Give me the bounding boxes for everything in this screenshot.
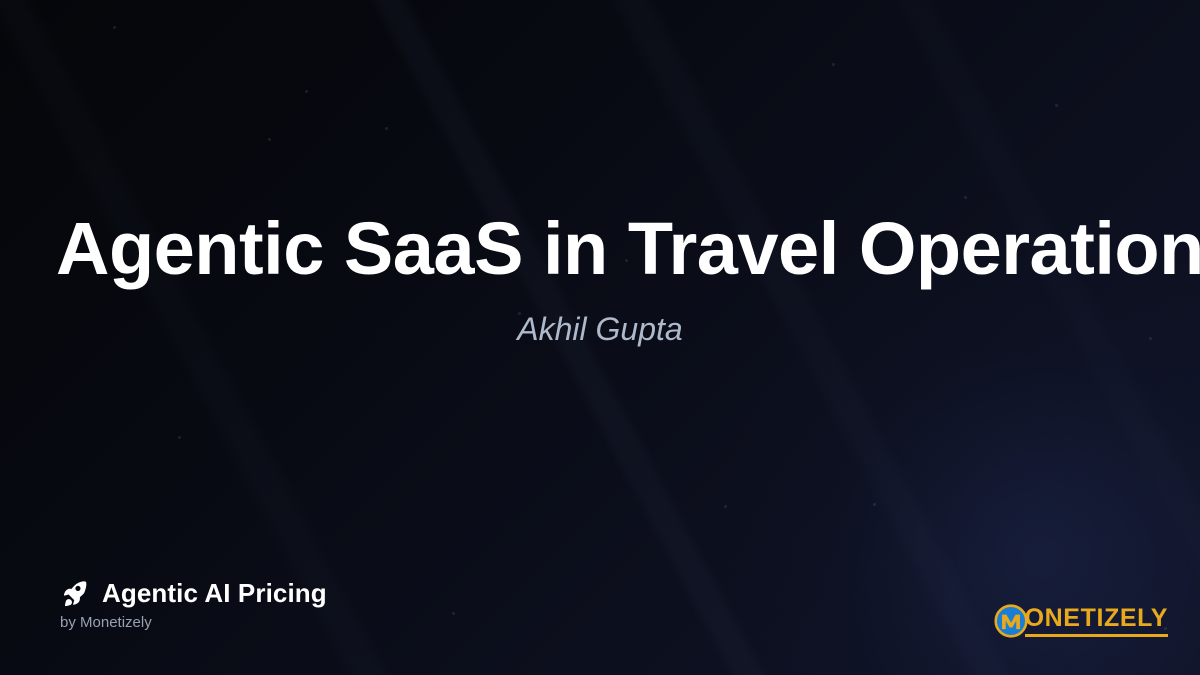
rocket-icon: [60, 579, 90, 609]
brand-subtitle: by Monetizely: [60, 614, 327, 631]
monetizely-wordmark: ONETIZELY: [1025, 606, 1168, 637]
presenter-name: Akhil Gupta: [0, 311, 1200, 348]
brand-name: Agentic AI Pricing: [102, 578, 327, 609]
page-title: Agentic SaaS in Travel Operations: [56, 210, 1148, 288]
monetizely-badge-icon: [994, 604, 1028, 638]
brand-row: Agentic AI Pricing: [60, 578, 327, 609]
presentation-slide: Agentic SaaS in Travel Operations Akhil …: [0, 0, 1200, 675]
monetizely-logo: ONETIZELY: [994, 604, 1168, 638]
footer-brand: Agentic AI Pricing by Monetizely: [60, 578, 327, 631]
